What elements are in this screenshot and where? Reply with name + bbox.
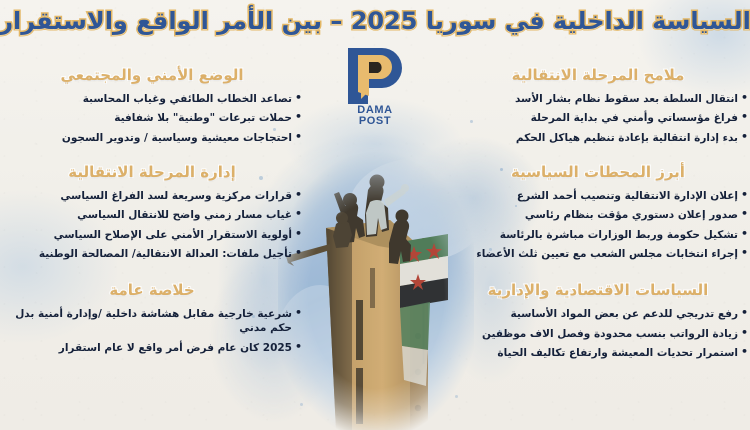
right-column: ملامح المرحلة الانتقالية انتقال السلطة ب…: [448, 60, 748, 430]
list-item: إعلان الإدارة الانتقالية وتنصيب أحمد الش…: [448, 189, 748, 203]
section-heading: السياسات الاقتصادية والإدارية: [448, 281, 748, 300]
section-bullet-list: شرعية خارجية مقابل هشاشة داخلية /وإدارة …: [2, 307, 302, 355]
letter-p-monogram-icon: [344, 46, 406, 104]
section-heading: إدارة المرحلة الانتقالية: [2, 163, 302, 182]
logo-line-post: POST: [357, 116, 392, 127]
section-transition-management: إدارة المرحلة الانتقالية قرارات مركزية و…: [2, 163, 302, 262]
section-political-milestones: أبرز المحطات السياسية إعلان الإدارة الان…: [448, 163, 748, 262]
section-heading: خلاصة عامة: [2, 281, 302, 300]
section-economic-admin-policies: السياسات الاقتصادية والإدارية رفع تدريجي…: [448, 281, 748, 360]
list-item: غياب مسار زمني واضح للانتقال السياسي: [2, 208, 302, 222]
poster-title: السياسة الداخلية في سوريا 2025 – بين الأ…: [0, 7, 750, 35]
list-item: زيادة الرواتب بنسب محدودة وفصل الاف موظف…: [448, 327, 748, 341]
list-item: انتقال السلطة بعد سقوط نظام بشار الأسد: [448, 92, 748, 106]
left-column: الوضع الأمني والمجتمعي تصاعد الخطاب الطا…: [2, 60, 302, 430]
section-heading: الوضع الأمني والمجتمعي: [2, 66, 302, 85]
list-item: رفع تدريجي للدعم عن بعض المواد الأساسية: [448, 307, 748, 321]
section-heading: ملامح المرحلة الانتقالية: [448, 66, 748, 85]
monument-illustration: [278, 150, 474, 430]
list-item: تصاعد الخطاب الطائفي وغياب المحاسبة: [2, 92, 302, 106]
list-item: تشكيل حكومة وربط الوزارات مباشرة بالرئاس…: [448, 228, 748, 242]
list-item: فراغ مؤسساتي وأمني في بداية المرحلة: [448, 111, 748, 125]
infographic-poster: السياسة الداخلية في سوريا 2025 – بين الأ…: [0, 0, 750, 430]
list-item: 2025 كان عام فرض أمر واقع لا عام استقرار: [2, 341, 302, 355]
list-item: إجراء انتخابات مجلس الشعب مع تعيين ثلث ا…: [448, 247, 748, 261]
monument-protest-photo: [278, 150, 474, 430]
list-item: احتجاجات معيشية وسياسية / وتدوير السجون: [2, 131, 302, 145]
section-transition-features: ملامح المرحلة الانتقالية انتقال السلطة ب…: [448, 66, 748, 145]
list-item: صدور إعلان دستوري مؤقت بنظام رئاسي: [448, 208, 748, 222]
list-item: حملات تبرعات "وطنية" بلا شفافية: [2, 111, 302, 125]
section-bullet-list: رفع تدريجي للدعم عن بعض المواد الأساسية …: [448, 307, 748, 360]
section-general-summary: خلاصة عامة شرعية خارجية مقابل هشاشة داخل…: [2, 281, 302, 354]
list-item: أولوية الاستقرار الأمني على الإصلاح السي…: [2, 228, 302, 242]
list-item: تأجيل ملفات: العدالة الانتقالية/ المصالح…: [2, 247, 302, 261]
section-heading: أبرز المحطات السياسية: [448, 163, 748, 182]
list-item: قرارات مركزية وسريعة لسد الفراغ السياسي: [2, 189, 302, 203]
list-item: شرعية خارجية مقابل هشاشة داخلية /وإدارة …: [2, 307, 302, 335]
section-bullet-list: انتقال السلطة بعد سقوط نظام بشار الأسد ف…: [448, 92, 748, 145]
logo-wordmark: DAMA POST: [357, 105, 392, 126]
damapost-logo: DAMA POST: [334, 46, 416, 134]
section-bullet-list: قرارات مركزية وسريعة لسد الفراغ السياسي …: [2, 189, 302, 262]
section-bullet-list: إعلان الإدارة الانتقالية وتنصيب أحمد الش…: [448, 189, 748, 262]
list-item: استمرار تحديات المعيشة وارتفاع تكاليف ال…: [448, 346, 748, 360]
section-security-social: الوضع الأمني والمجتمعي تصاعد الخطاب الطا…: [2, 66, 302, 145]
logo-line-dama: DAMA: [357, 105, 392, 116]
poster-title-container: السياسة الداخلية في سوريا 2025 – بين الأ…: [0, 4, 750, 38]
section-bullet-list: تصاعد الخطاب الطائفي وغياب المحاسبة حملا…: [2, 92, 302, 145]
list-item: بدء إدارة انتقالية بإعادة تنظيم هياكل ال…: [448, 131, 748, 145]
